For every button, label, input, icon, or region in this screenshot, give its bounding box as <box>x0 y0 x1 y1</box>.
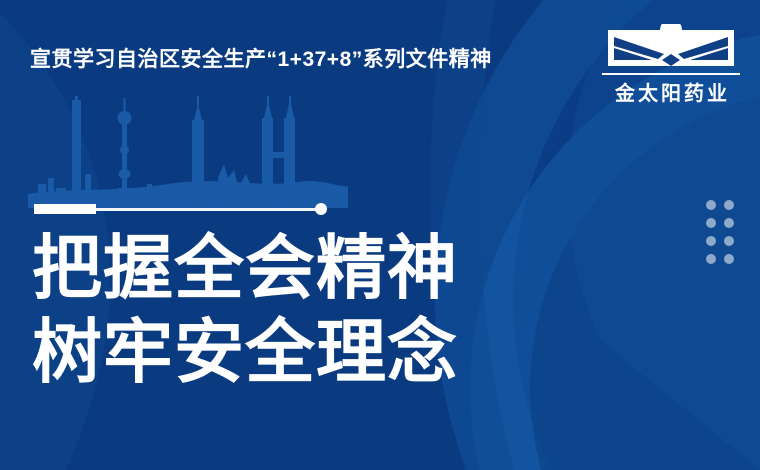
headline-line-1: 把握全会精神 <box>32 226 458 310</box>
dot <box>706 200 716 210</box>
progress-fill <box>34 204 96 214</box>
golden-sun-emblem-icon <box>600 24 742 70</box>
dot <box>724 236 734 246</box>
dot <box>724 254 734 264</box>
main-headline: 把握全会精神 树牢安全理念 <box>32 226 458 394</box>
logo-divider <box>602 73 740 75</box>
dot <box>724 200 734 210</box>
headline-line-2: 树牢安全理念 <box>32 310 458 394</box>
company-name: 金太阳药业 <box>600 77 742 106</box>
progress-bar[interactable] <box>34 203 324 215</box>
header-subtitle: 宣贯学习自治区安全生产“1+37+8”系列文件精神 <box>30 46 492 73</box>
dot <box>706 254 716 264</box>
company-logo: 金太阳药业 <box>600 24 742 102</box>
dot <box>724 218 734 228</box>
dot <box>706 236 716 246</box>
city-skyline-silhouette <box>28 96 348 208</box>
progress-knob[interactable] <box>315 203 327 215</box>
safety-production-banner: 宣贯学习自治区安全生产“1+37+8”系列文件精神 金太阳药业 <box>0 0 760 470</box>
decorative-dot-grid <box>706 200 742 272</box>
dot <box>706 218 716 228</box>
